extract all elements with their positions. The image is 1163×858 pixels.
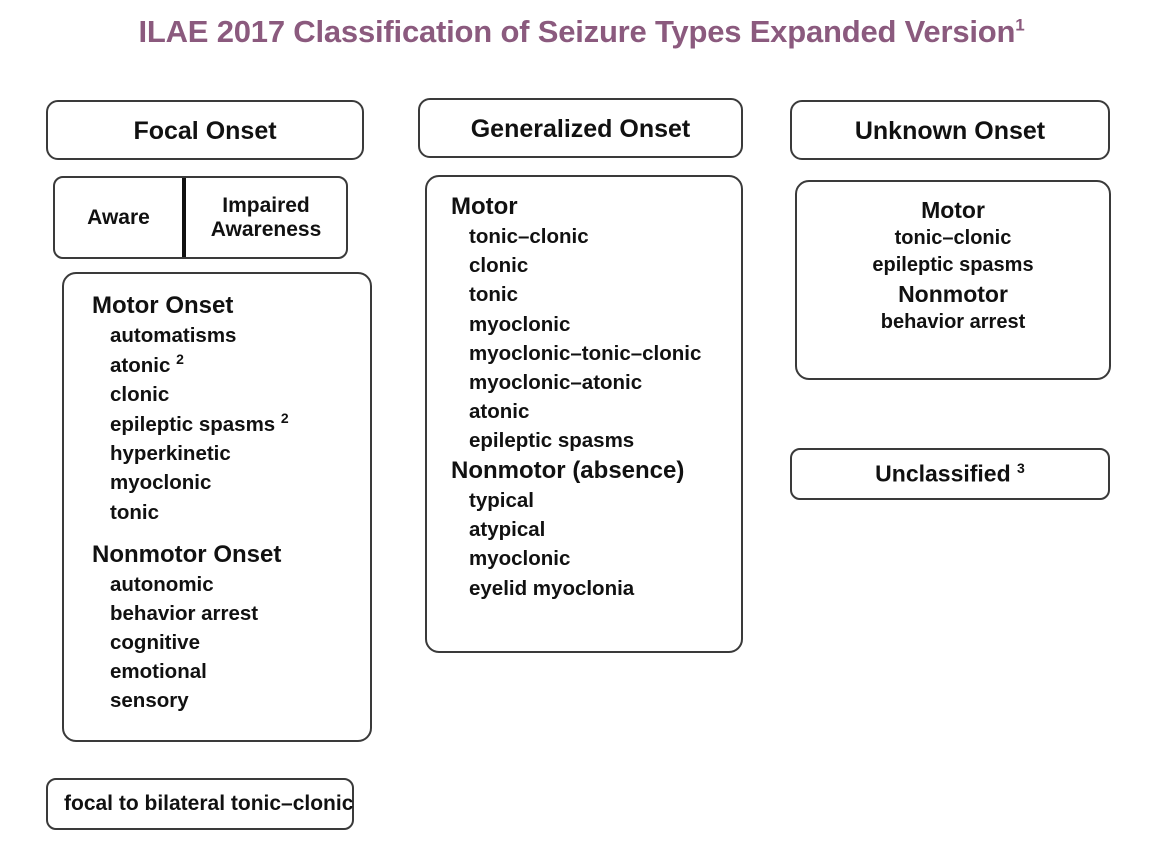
group-title-nonmotor-absence: Nonmotor (absence) — [451, 455, 741, 486]
list-item: behavior arrest — [797, 309, 1109, 337]
footnote-marker: 2 — [176, 351, 184, 367]
awareness-box: Aware Impaired Awareness — [53, 176, 348, 259]
generalized-onset-header-label: Generalized Onset — [420, 117, 741, 142]
generalized-groups: Motor tonic–clonic clonic tonic myocloni… — [427, 177, 741, 603]
list-item: clonic — [469, 251, 741, 280]
list-item: eyelid myoclonia — [469, 574, 741, 603]
focal-to-bilateral-label: focal to bilateral tonic–clonic — [64, 792, 353, 816]
list-item: sensory — [110, 686, 370, 715]
page-title-footnote-marker: 1 — [1015, 16, 1024, 35]
list-item: atypical — [469, 515, 741, 544]
unknown-detail-box: Motor tonic–clonic epileptic spasms Nonm… — [795, 180, 1111, 380]
focal-detail-box: Motor Onset automatisms atonic 2 clonic … — [62, 272, 372, 742]
list-item-label: epileptic spasms — [110, 413, 275, 436]
focal-to-bilateral-box: focal to bilateral tonic–clonic — [46, 778, 354, 830]
generalized-onset-header-box: Generalized Onset — [418, 98, 743, 158]
group-title-motor-onset: Motor Onset — [92, 290, 370, 321]
list-item: tonic–clonic — [469, 222, 741, 251]
list-item: tonic — [110, 498, 370, 527]
list-item: tonic–clonic — [797, 225, 1109, 253]
focal-groups: Motor Onset automatisms atonic 2 clonic … — [64, 274, 370, 715]
list-item: atonic 2 — [110, 350, 370, 380]
list-item: epileptic spasms — [797, 252, 1109, 280]
list-item-label: atonic — [110, 354, 170, 377]
unknown-onset-header-label: Unknown Onset — [792, 119, 1108, 144]
generalized-detail-box: Motor tonic–clonic clonic tonic myocloni… — [425, 175, 743, 653]
footnote-marker: 3 — [1017, 460, 1025, 476]
list-item: typical — [469, 486, 741, 515]
unknown-groups: Motor tonic–clonic epileptic spasms Nonm… — [797, 182, 1109, 336]
focal-onset-header-box: Focal Onset — [46, 100, 364, 160]
group-title-motor: Motor — [451, 191, 741, 222]
page-title: ILAE 2017 Classification of Seizure Type… — [0, 14, 1163, 50]
list-item: myoclonic–atonic — [469, 368, 741, 397]
list-item: automatisms — [110, 321, 370, 350]
list-item: emotional — [110, 657, 370, 686]
group-title-nonmotor: Nonmotor — [797, 280, 1109, 309]
list-item: tonic — [469, 280, 741, 309]
list-item: autonomic — [110, 570, 370, 599]
unknown-onset-header-box: Unknown Onset — [790, 100, 1110, 160]
aware-cell: Aware — [55, 178, 182, 257]
list-item: atonic — [469, 397, 741, 426]
list-item: behavior arrest — [110, 599, 370, 628]
footnote-marker: 2 — [281, 410, 289, 426]
list-item: myoclonic — [469, 544, 741, 573]
unclassified-text: Unclassified — [875, 461, 1011, 487]
list-item: epileptic spasms — [469, 426, 741, 455]
impaired-awareness-cell: Impaired Awareness — [186, 178, 346, 257]
group-title-nonmotor-onset: Nonmotor Onset — [92, 539, 370, 570]
list-item: cognitive — [110, 628, 370, 657]
list-item: myoclonic — [110, 468, 370, 497]
unclassified-box: Unclassified 3 — [790, 448, 1110, 500]
list-item: myoclonic–tonic–clonic — [469, 339, 741, 368]
group-title-motor: Motor — [797, 196, 1109, 225]
unclassified-label: Unclassified 3 — [875, 460, 1025, 488]
page-title-text: ILAE 2017 Classification of Seizure Type… — [138, 14, 1015, 49]
focal-onset-header-label: Focal Onset — [48, 119, 362, 144]
list-item: myoclonic — [469, 310, 741, 339]
list-item: clonic — [110, 380, 370, 409]
list-item: epileptic spasms 2 — [110, 409, 370, 439]
group-spacer — [64, 527, 370, 539]
list-item: hyperkinetic — [110, 439, 370, 468]
